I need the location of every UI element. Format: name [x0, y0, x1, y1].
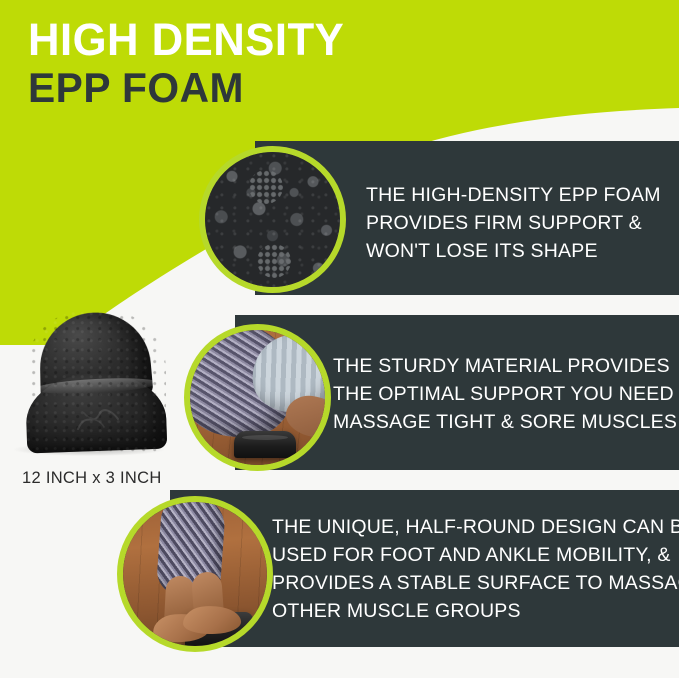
feature-image-3: [117, 496, 273, 652]
feature-3-line-2: USED FOR FOOT AND ANKLE MOBILITY, &: [272, 541, 679, 569]
infographic-canvas: HIGH DENSITY EPP FOAM THE HIGH-DENSITY E…: [0, 0, 679, 678]
feature-3-line-1: THE UNIQUE, HALF-ROUND DESIGN CAN BE: [272, 513, 679, 541]
title-line-primary: HIGH DENSITY: [28, 16, 344, 63]
feature-image-1: [199, 146, 346, 293]
product-drop-shadow: [14, 443, 164, 456]
product-hero-image: [8, 307, 176, 459]
foam-roller-icon: [234, 431, 296, 458]
foam-speckle-texture: [26, 311, 166, 455]
brand-logo-icon: [74, 407, 122, 433]
feature-text-3: THE UNIQUE, HALF-ROUND DESIGN CAN BE USE…: [272, 513, 679, 625]
title-line-secondary: EPP FOAM: [28, 65, 344, 111]
feature-3-line-4: OTHER MUSCLE GROUPS: [272, 597, 679, 625]
feature-1-line-3: WON'T LOSE ITS SHAPE: [366, 237, 661, 265]
feature-text-2: THE STURDY MATERIAL PROVIDES THE OPTIMAL…: [333, 352, 679, 436]
feature-2-line-3: MASSAGE TIGHT & SORE MUSCLES: [333, 408, 679, 436]
feature-text-1: THE HIGH-DENSITY EPP FOAM PROVIDES FIRM …: [366, 181, 661, 265]
feature-1-line-2: PROVIDES FIRM SUPPORT &: [366, 209, 661, 237]
product-size-caption: 12 INCH x 3 INCH: [22, 469, 162, 488]
feature-2-line-1: THE STURDY MATERIAL PROVIDES: [333, 352, 679, 380]
feature-1-line-1: THE HIGH-DENSITY EPP FOAM: [366, 181, 661, 209]
feature-3-line-3: PROVIDES A STABLE SURFACE TO MASSAGE: [272, 569, 679, 597]
page-title: HIGH DENSITY EPP FOAM: [28, 16, 354, 111]
feature-2-line-2: THE OPTIMAL SUPPORT YOU NEED TO: [333, 380, 679, 408]
feature-image-2: [184, 324, 331, 471]
